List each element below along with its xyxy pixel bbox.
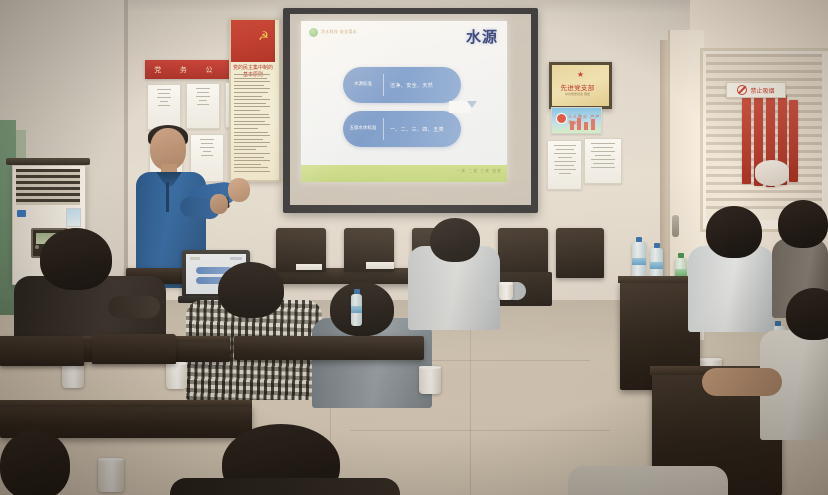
water-bottle[interactable]	[632, 242, 646, 280]
screen-glare	[301, 21, 507, 182]
attendee-head	[40, 228, 112, 290]
water-bottle[interactable]	[351, 294, 362, 326]
bottle-label	[650, 262, 663, 269]
bulletin-card	[147, 84, 181, 130]
safety-badge-icon	[556, 113, 567, 124]
no-smoking-icon	[737, 85, 747, 95]
handout-paper	[296, 264, 322, 270]
bottle-label	[632, 258, 646, 265]
chair-back[interactable]	[92, 334, 176, 364]
bottle-label	[351, 306, 362, 313]
award-plaque: ★ 先进党支部 中共党委员会 颁发	[549, 62, 612, 109]
decorative-lantern	[755, 160, 789, 186]
poster-red-header: ☭	[231, 20, 275, 62]
ac-label-sticker	[66, 208, 81, 227]
empty-chair[interactable]	[556, 228, 604, 278]
notice-lines	[548, 141, 581, 178]
attendee-head	[778, 200, 828, 248]
attendee-head	[430, 218, 480, 262]
door-handle[interactable]	[672, 215, 679, 237]
card-lines	[187, 84, 219, 109]
paper-cup[interactable]	[166, 362, 187, 389]
laptop-slide-title	[230, 257, 242, 260]
bottle-cap	[354, 289, 360, 294]
laptop-slide-logo	[190, 257, 200, 260]
banner-char: 公	[205, 65, 212, 75]
card-lines	[148, 85, 180, 110]
attendee-arm	[108, 296, 160, 318]
notice-lines	[585, 139, 621, 172]
notice-sheet-left	[547, 140, 582, 190]
paper-cup[interactable]	[98, 458, 124, 492]
ac-vent-grille	[16, 169, 80, 205]
ac-button[interactable]	[35, 245, 39, 249]
ac-brand-badge	[17, 210, 26, 217]
paper-cup[interactable]	[419, 366, 441, 394]
bottle-cap	[775, 321, 781, 326]
attendee-head	[330, 282, 394, 336]
bottle-label	[675, 269, 687, 276]
attendee-body	[170, 478, 400, 495]
party-emblem-icon: ★	[577, 71, 585, 79]
paper-cup[interactable]	[499, 282, 513, 300]
banner-char: 务	[180, 65, 187, 75]
ac-top-cap	[6, 158, 90, 165]
photo-scene: 党 务 公 开 栏 ☭ 党的民主集中制的基本原则	[0, 0, 828, 495]
middle-row-desk	[234, 336, 424, 360]
attendee-head	[218, 262, 284, 318]
no-smoking-sign: 禁止吸烟	[726, 82, 786, 98]
attendee-arm	[702, 368, 782, 396]
plaque-subtext: 中共党委员会 颁发	[552, 92, 603, 96]
chair-back[interactable]	[0, 336, 84, 366]
bottle-cap	[636, 237, 642, 242]
plaque-text: 先进党支部	[552, 82, 603, 92]
attendee-head	[706, 206, 762, 258]
presenter-placket	[166, 182, 169, 212]
bottle-cap	[678, 253, 684, 258]
safety-sign: 人人防火 户户平安	[551, 107, 602, 134]
notice-sheet-right	[584, 138, 622, 184]
presenter-left-hand	[210, 194, 228, 214]
banner-char: 党	[154, 65, 161, 75]
attendee-body	[688, 246, 774, 332]
hammer-sickle-icon: ☭	[257, 30, 270, 43]
bulletin-card	[186, 83, 220, 129]
handout-paper	[366, 262, 394, 269]
attendee-body	[568, 466, 728, 495]
no-smoking-text: 禁止吸烟	[750, 86, 774, 95]
empty-chair[interactable]	[498, 228, 548, 276]
attendee-head	[786, 288, 828, 340]
attendee-head	[0, 430, 70, 495]
bottle-cap	[654, 243, 660, 248]
presenter-right-hand	[228, 178, 250, 202]
desk-edge	[0, 400, 252, 407]
